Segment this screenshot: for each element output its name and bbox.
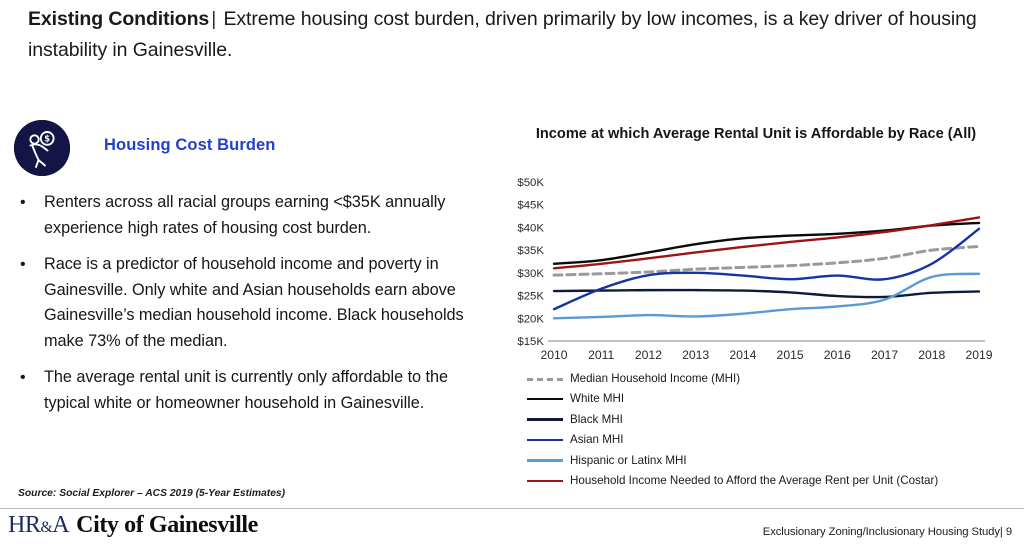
y-axis-tick-label: $30K <box>517 268 544 280</box>
footer-divider <box>0 508 1024 509</box>
legend-item-white-mhi: White MHI <box>527 389 1007 410</box>
legend-line <box>527 418 563 421</box>
legend-swatch-icon <box>527 372 563 384</box>
hra-logo-amp: & <box>40 519 52 536</box>
section-badge-row: $ Housing Cost Burden <box>0 108 500 172</box>
y-axis-tick-label: $50K <box>517 177 544 189</box>
line-chart: $50K$45K$40K$35K$30K$25K$20K$15K20102011… <box>496 174 1016 379</box>
footer-logo: HR&A City of Gainesville <box>8 512 258 539</box>
page-number: 9 <box>1006 526 1012 538</box>
legend-line <box>527 480 563 483</box>
y-axis-tick-label: $45K <box>517 200 544 212</box>
y-axis-tick-label: $15K <box>517 336 544 348</box>
legend-swatch-icon <box>527 475 563 487</box>
list-item-text: Race is a predictor of household income … <box>44 255 464 350</box>
legend-item-hispanic-latinx-mhi: Hispanic or Latinx MHI <box>527 450 1007 471</box>
study-name: Exclusionary Zoning/Inclusionary Housing… <box>763 526 1000 538</box>
footer-study-info: Exclusionary Zoning/Inclusionary Housing… <box>763 526 1012 538</box>
x-axis-tick-label: 2015 <box>777 348 804 362</box>
hra-logo-a: A <box>52 512 69 538</box>
x-axis-tick-label: 2014 <box>729 348 756 362</box>
bullet-marker: • <box>20 190 26 216</box>
svg-text:$: $ <box>44 134 50 144</box>
legend-item-asian-mhi: Asian MHI <box>527 430 1007 451</box>
legend-swatch-icon <box>527 413 563 425</box>
y-axis-tick-label: $20K <box>517 313 544 325</box>
legend-line <box>527 398 563 401</box>
x-axis-tick-label: 2018 <box>918 348 945 362</box>
page-title: Existing Conditions| Extreme housing cos… <box>28 4 993 66</box>
legend-line <box>527 378 563 381</box>
person-carrying-money-icon: $ <box>14 120 70 176</box>
list-item-text: Renters across all racial groups earning… <box>44 193 445 237</box>
footer-separator: | <box>1000 526 1003 538</box>
list-item-text: The average rental unit is currently onl… <box>44 368 448 412</box>
legend-label: Black MHI <box>570 413 623 426</box>
x-axis-tick-label: 2010 <box>540 348 567 362</box>
section-badge-title: Housing Cost Burden <box>104 136 275 155</box>
legend-swatch-icon <box>527 393 563 405</box>
x-axis-tick-label: 2019 <box>965 348 992 362</box>
y-axis-tick-label: $35K <box>517 245 544 257</box>
x-axis-tick-label: 2017 <box>871 348 898 362</box>
source-note: Source: Social Explorer – ACS 2019 (5-Ye… <box>18 488 488 499</box>
x-axis-tick-label: 2013 <box>682 348 709 362</box>
chart-series-line <box>554 229 979 309</box>
legend-item-income-needed-for-average-rent: Household Income Needed to Afford the Av… <box>527 471 1007 492</box>
chart-series-line <box>554 290 979 297</box>
key-findings-list: • Renters across all racial groups earni… <box>14 190 494 427</box>
list-item: • The average rental unit is currently o… <box>14 365 494 416</box>
bullet-marker: • <box>20 252 26 278</box>
legend-label: Household Income Needed to Afford the Av… <box>570 474 938 487</box>
list-item: • Race is a predictor of household incom… <box>14 252 494 354</box>
legend-item-median-household-income: Median Household Income (MHI) <box>527 368 1007 389</box>
legend-label: White MHI <box>570 392 624 405</box>
legend-swatch-icon <box>527 454 563 466</box>
legend-label: Hispanic or Latinx MHI <box>570 454 687 467</box>
x-axis-tick-label: 2011 <box>588 348 614 362</box>
chart-title: Income at which Average Rental Unit is A… <box>521 122 991 144</box>
chart-legend: Median Household Income (MHI) White MHI … <box>527 368 1007 491</box>
client-name: City of Gainesville <box>76 512 258 539</box>
chart-series-line <box>554 274 979 319</box>
x-axis-tick-label: 2012 <box>635 348 662 362</box>
chart-panel: Income at which Average Rental Unit is A… <box>496 122 1016 382</box>
legend-line <box>527 439 563 442</box>
legend-line <box>527 459 563 462</box>
chart-series-line <box>554 217 979 268</box>
legend-label: Asian MHI <box>570 433 623 446</box>
list-item: • Renters across all racial groups earni… <box>14 190 494 241</box>
y-axis-tick-label: $25K <box>517 291 544 303</box>
x-axis-tick-label: 2016 <box>824 348 851 362</box>
page-title-separator: | <box>209 8 218 30</box>
legend-item-black-mhi: Black MHI <box>527 409 1007 430</box>
left-content-panel: $ Housing Cost Burden • Renters across a… <box>0 108 500 172</box>
page-title-eyebrow: Existing Conditions <box>28 8 209 30</box>
hra-logo-hr: HR <box>8 512 40 538</box>
legend-swatch-icon <box>527 434 563 446</box>
legend-label: Median Household Income (MHI) <box>570 372 740 385</box>
y-axis-tick-label: $40K <box>517 222 544 234</box>
hra-logo: HR&A <box>8 512 69 539</box>
bullet-marker: • <box>20 365 26 391</box>
